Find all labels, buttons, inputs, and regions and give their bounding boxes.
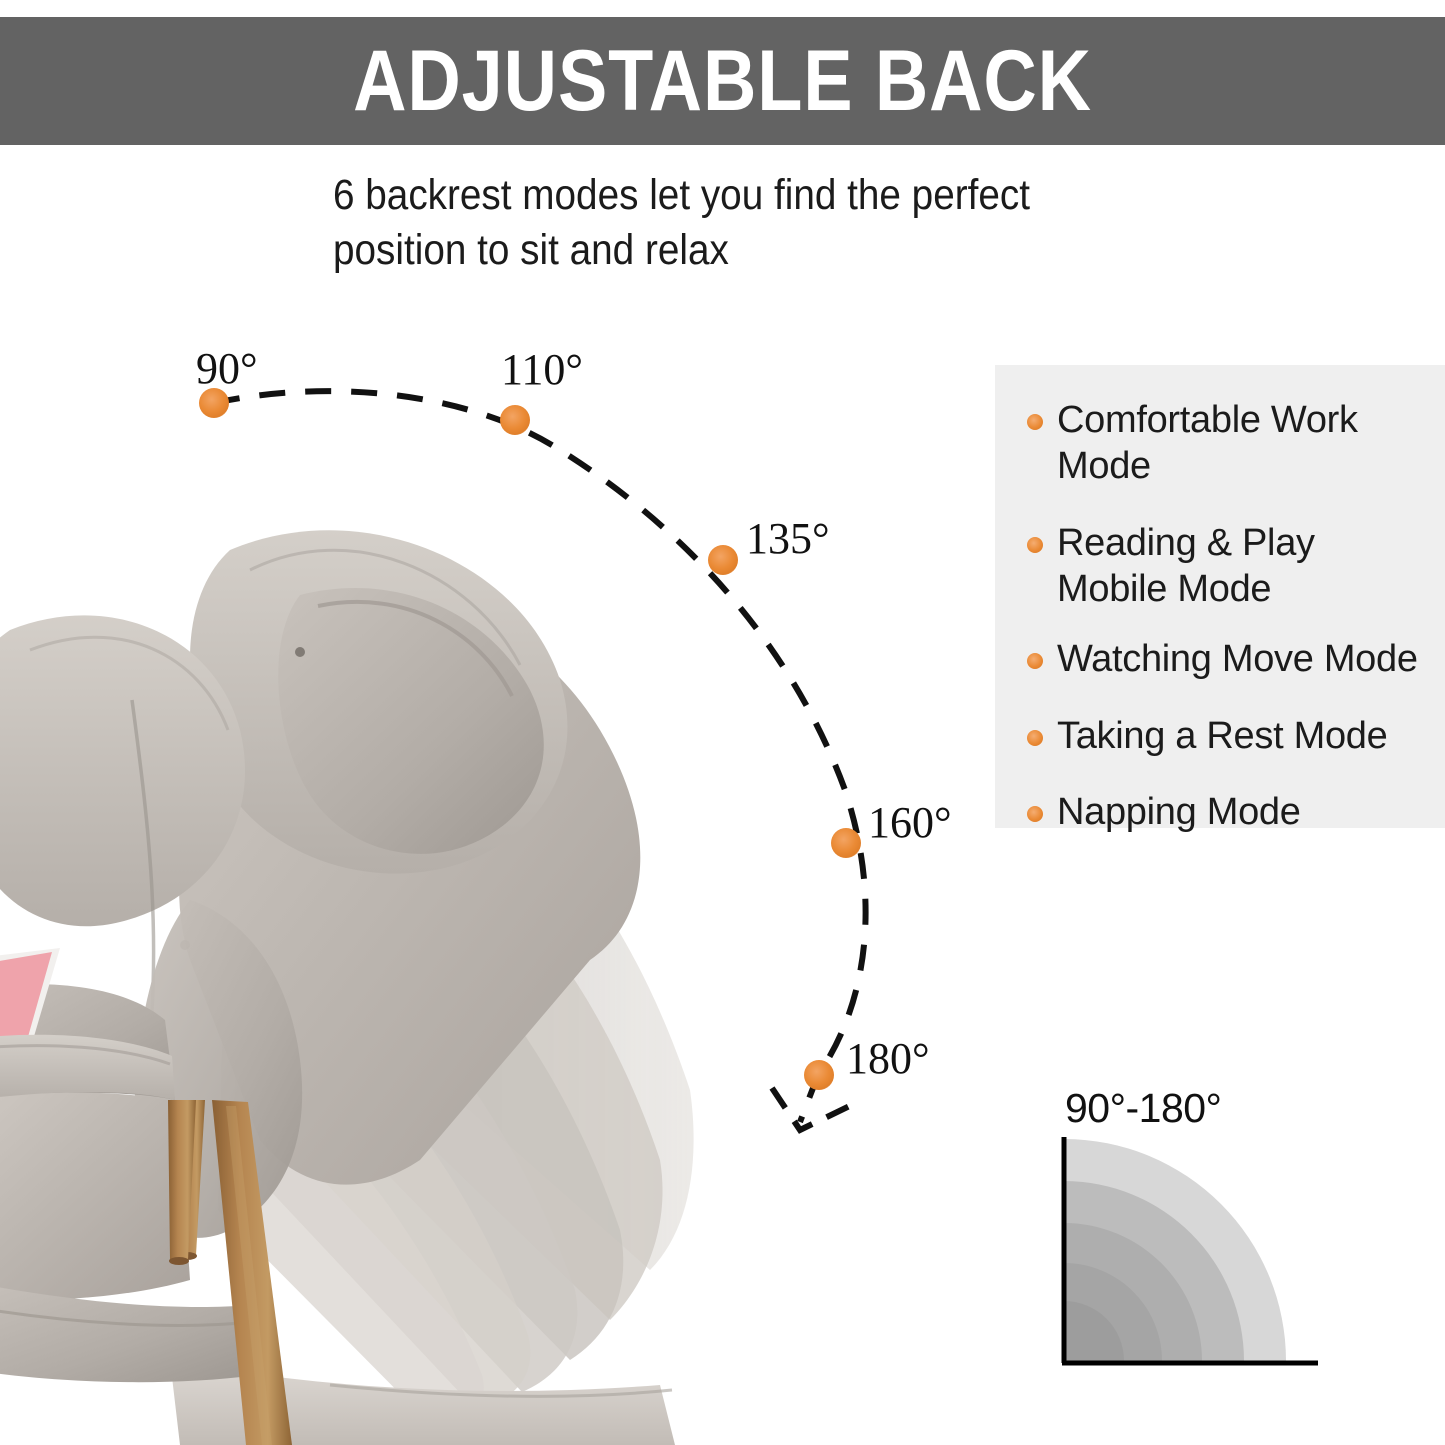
angle-dot-160 <box>831 828 861 858</box>
list-item: Taking a Rest Mode <box>1027 713 1423 759</box>
angle-range-diagram: 90°-180° <box>1050 1085 1350 1385</box>
mode-list-panel: Comfortable Work Mode Reading & Play Mob… <box>995 365 1445 828</box>
mode-label-rest: Taking a Rest Mode <box>1057 713 1387 759</box>
list-item: Comfortable Work Mode <box>1027 397 1423 490</box>
page-title: ADJUSTABLE BACK <box>353 38 1092 124</box>
subtitle-line-2: position to sit and relax <box>333 223 1080 278</box>
quarter-arc-graphic <box>1050 1133 1322 1371</box>
angle-label-110: 110° <box>501 344 583 395</box>
angle-dot-180 <box>804 1060 834 1090</box>
mode-label-reading: Reading & Play Mobile Mode <box>1057 520 1315 613</box>
mode-label-work: Comfortable Work Mode <box>1057 397 1423 490</box>
mode-label-reading-line1: Reading & Play <box>1057 522 1315 564</box>
header-band: ADJUSTABLE BACK <box>0 17 1445 145</box>
angle-label-160: 160° <box>868 797 952 848</box>
mode-label-watching: Watching Move Mode <box>1057 636 1418 682</box>
list-item: Napping Mode <box>1027 789 1423 835</box>
angle-dot-135 <box>708 545 738 575</box>
subtitle: 6 backrest modes let you find the perfec… <box>333 168 1080 278</box>
infographic-root: ADJUSTABLE BACK 6 backrest modes let you… <box>0 0 1445 1445</box>
angle-label-180: 180° <box>846 1033 930 1084</box>
angle-range-label: 90°-180° <box>1065 1085 1221 1132</box>
mode-label-reading-line2: Mobile Mode <box>1057 568 1271 610</box>
angle-dot-110 <box>500 405 530 435</box>
bullet-dot-icon <box>1027 653 1043 669</box>
angle-label-90: 90° <box>196 343 258 394</box>
arc-arrowhead-icon <box>772 1088 862 1130</box>
product-photo <box>0 400 720 1445</box>
list-item: Watching Move Mode <box>1027 636 1423 682</box>
bullet-dot-icon <box>1027 537 1043 553</box>
subtitle-line-1: 6 backrest modes let you find the perfec… <box>333 168 1080 223</box>
mode-label-napping: Napping Mode <box>1057 789 1301 835</box>
angle-label-135: 135° <box>746 513 830 564</box>
bullet-dot-icon <box>1027 806 1043 822</box>
bullet-dot-icon <box>1027 730 1043 746</box>
mode-list: Comfortable Work Mode Reading & Play Mob… <box>1027 397 1423 836</box>
chair-illustration <box>0 400 720 1445</box>
list-item: Reading & Play Mobile Mode <box>1027 520 1423 613</box>
bullet-dot-icon <box>1027 414 1043 430</box>
